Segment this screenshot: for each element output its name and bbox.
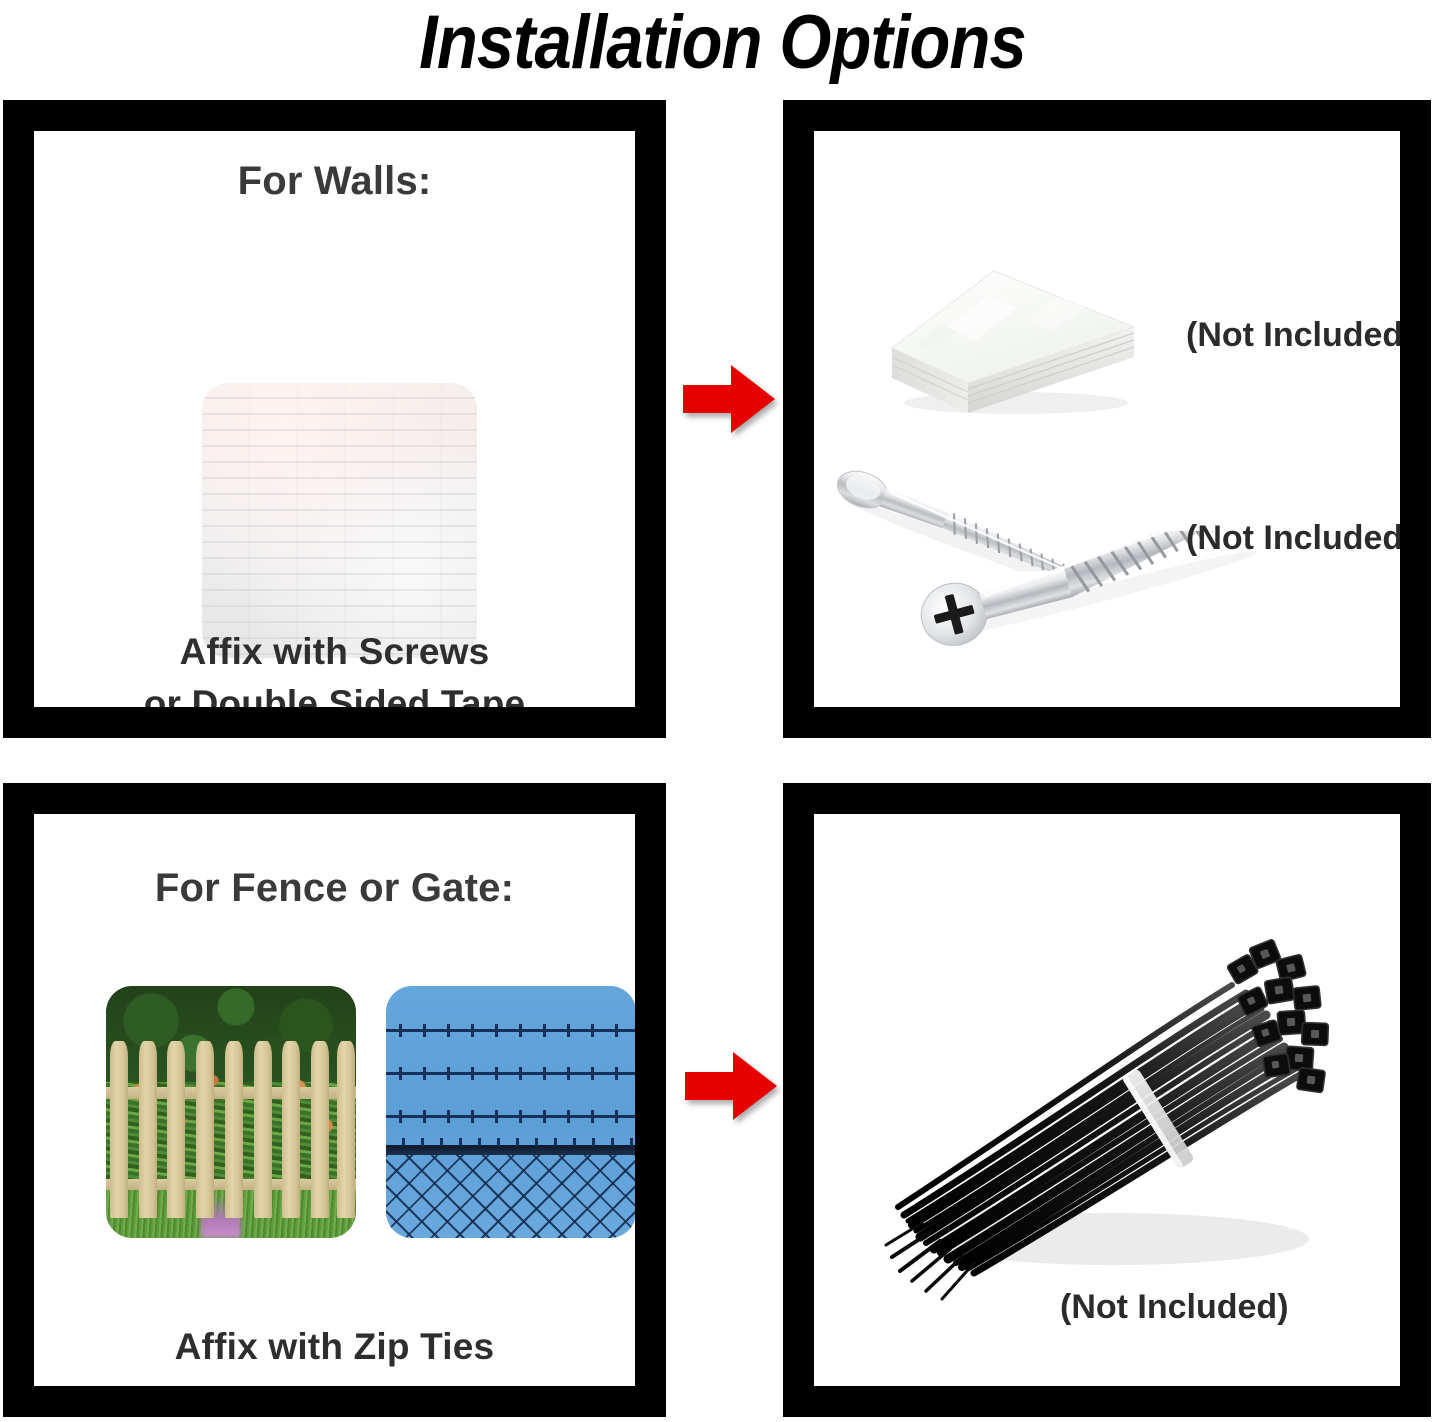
barbed-wire-strand — [386, 1072, 635, 1075]
fence-picket — [282, 1041, 300, 1217]
page-title: Installation Options — [87, 0, 1359, 92]
panel-for-walls-inner: For Walls: Affix with Screws or Double S… — [34, 131, 635, 707]
for-walls-heading: For Walls: — [34, 159, 635, 204]
fence-picket — [110, 1041, 128, 1217]
for-walls-caption-line-1: Affix with Screws — [34, 631, 635, 673]
wall-brick-joints-layer — [202, 383, 477, 658]
for-fence-heading: For Fence or Gate: — [34, 866, 635, 911]
for-walls-caption-line-2: or Double Sided Tape — [34, 683, 635, 707]
tape-not-included-label: (Not Included) — [1186, 316, 1400, 355]
red-right-arrow-icon-bottom — [685, 1050, 777, 1122]
screws-not-included-label: (Not Included) — [1186, 519, 1400, 558]
wooden-picket-fence-image — [106, 986, 356, 1238]
picket-slats-layer — [106, 1041, 356, 1217]
chain-link-mesh — [386, 1155, 635, 1238]
zip-tie-bundle-image — [874, 919, 1334, 1319]
fence-picket — [337, 1041, 355, 1217]
panel-zip-ties-inner: (Not Included) — [814, 814, 1400, 1386]
panel-for-fence-or-gate: For Fence or Gate: — [3, 783, 666, 1417]
for-fence-caption: Affix with Zip Ties — [34, 1326, 635, 1368]
panel-for-fence-or-gate-inner: For Fence or Gate: — [34, 814, 635, 1386]
fence-picket — [225, 1041, 243, 1217]
barbed-wire-strand — [386, 1029, 635, 1032]
fence-picket — [196, 1041, 214, 1217]
fence-top-rail — [386, 1145, 635, 1156]
fence-picket — [311, 1041, 329, 1217]
fence-picket — [167, 1041, 185, 1217]
barbed-wire-strand — [386, 1115, 635, 1118]
panel-wall-hardware: (Not Included) — [783, 100, 1431, 738]
panel-wall-hardware-inner: (Not Included) — [814, 131, 1400, 707]
panel-zip-ties: (Not Included) — [783, 783, 1431, 1417]
panel-for-walls: For Walls: Affix with Screws or Double S… — [3, 100, 666, 738]
chain-link-fence-image — [386, 986, 635, 1238]
double-sided-tape-stack-image — [876, 253, 1144, 418]
fence-picket — [139, 1041, 157, 1217]
zip-ties-not-included-label: (Not Included) — [1060, 1288, 1289, 1327]
red-right-arrow-icon-top — [683, 363, 775, 435]
white-brick-wall-image — [202, 383, 477, 658]
fence-picket — [254, 1041, 272, 1217]
